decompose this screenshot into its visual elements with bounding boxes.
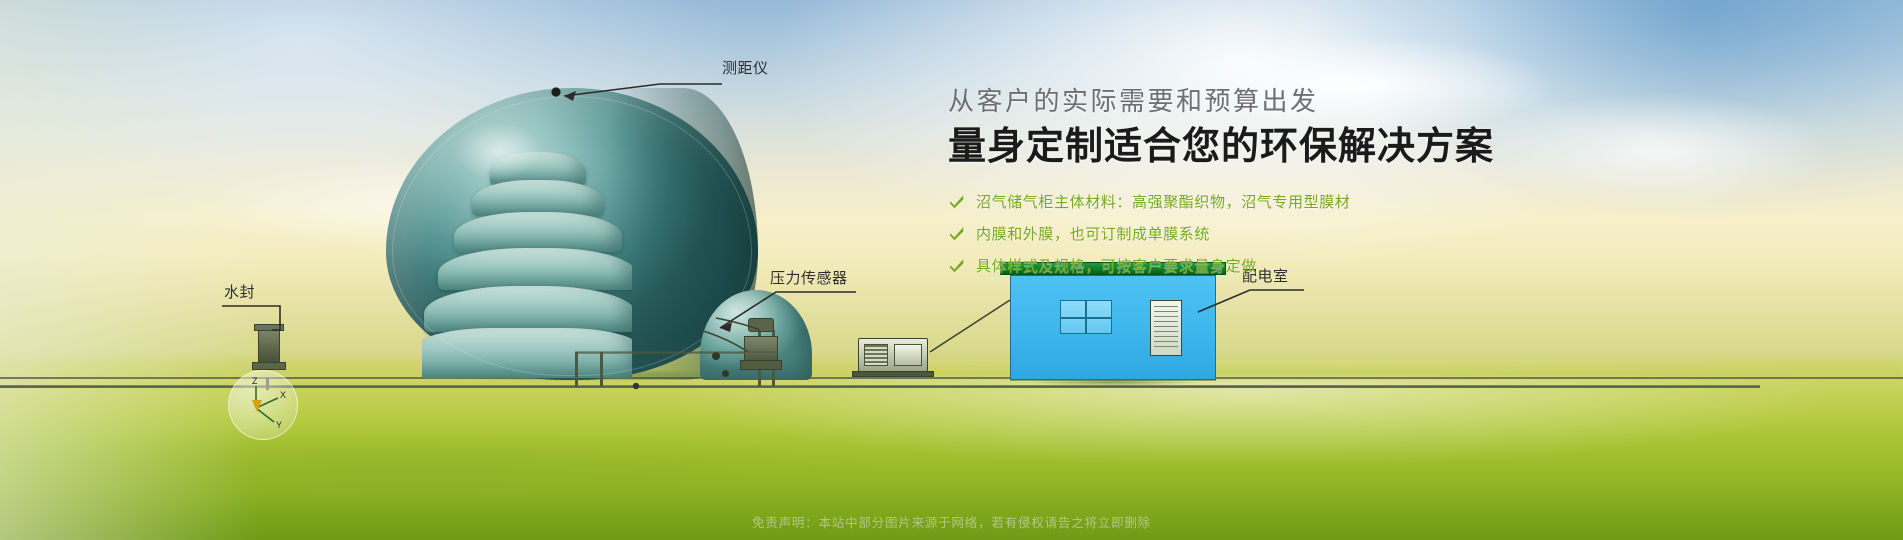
callout-pressure-sensor-label: 压力传感器 [770, 270, 848, 288]
list-item: 内膜和外膜，也可订制成单膜系统 [948, 218, 1568, 248]
distribution-room-building [1010, 275, 1216, 380]
check-circle-icon [948, 225, 965, 242]
bullet-text: 具体样式及规格，可按客户要求量身定做 [976, 255, 1257, 276]
left-vignette [0, 0, 260, 540]
hero-bullet-list: 沼气储气柜主体材料：高强聚酯织物，沼气专用型膜材 内膜和外膜，也可订制成单膜系统… [948, 186, 1568, 280]
valve-top [748, 318, 774, 332]
control-panel-detail [1154, 306, 1178, 350]
hero-subtitle: 从客户的实际需要和预算出发 [948, 84, 1568, 118]
list-item: 沼气储气柜主体材料：高强聚酯织物，沼气专用型膜材 [948, 186, 1568, 216]
bullet-text: 沼气储气柜主体材料：高强聚酯织物，沼气专用型膜材 [976, 191, 1350, 212]
axis-gizmo: Z X Y [228, 370, 298, 440]
hero-headline: 量身定制适合您的环保解决方案 [948, 124, 1568, 170]
svg-text:Y: Y [276, 420, 282, 430]
water-seal-unit [258, 330, 280, 364]
valve-body [744, 336, 778, 362]
pipeline-riser [600, 352, 603, 386]
water-seal-base [252, 362, 286, 370]
svg-text:Z: Z [252, 376, 258, 386]
disclaimer-text: 免责声明：本站中部分图片来源于网络，若有侵权请告之将立即删除 [0, 512, 1903, 531]
callout-water-seal-label: 水封 [224, 284, 255, 302]
pressure-sensor-node [722, 370, 729, 377]
svg-text:X: X [280, 390, 286, 400]
pipeline-riser [575, 352, 578, 386]
list-item: 具体样式及规格，可按客户要求量身定做 [948, 250, 1568, 280]
callout-rangefinder-label: 测距仪 [722, 60, 769, 78]
hero-banner: Z X Y 测距仪 水封 压力传感器 配电室 从客户的实际需要和预算出发 量身定… [0, 0, 1903, 540]
axis-gizmo-arrows: Z X Y [228, 370, 298, 440]
check-circle-icon [948, 257, 965, 274]
hero-text-panel: 从客户的实际需要和预算出发 量身定制适合您的环保解决方案 沼气储气柜主体材料：高… [948, 84, 1568, 282]
pressure-sensor-node [712, 352, 720, 360]
window-mullion-vertical [1085, 300, 1087, 334]
compressor-base [852, 371, 934, 377]
compressor-grill [864, 344, 888, 366]
bullet-text: 内膜和外膜，也可订制成单膜系统 [976, 223, 1210, 244]
compressor-body [894, 344, 922, 366]
check-circle-icon [948, 193, 965, 210]
valve-base [740, 360, 782, 370]
